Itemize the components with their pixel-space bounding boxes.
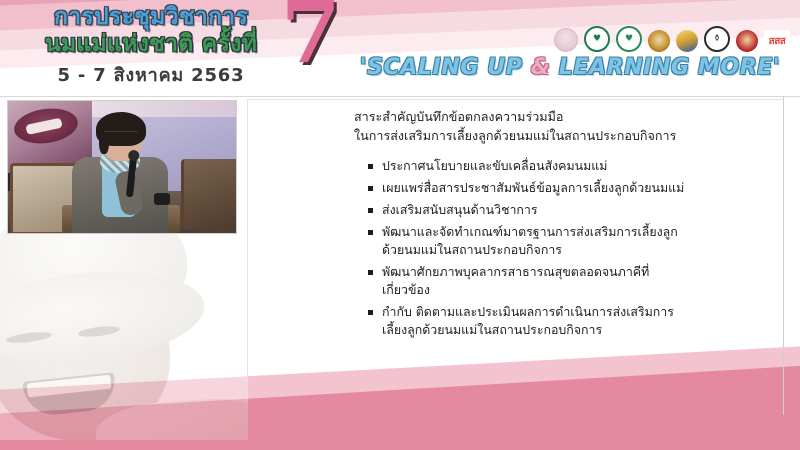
logo-breastfeeding-foundation-icon: ♥: [584, 26, 610, 52]
bullet-text: ประกาศนโยบายและขับเคลื่อนสังคมนมแม่: [382, 158, 607, 173]
bullet-text: กำกับ ติดตามและประเมินผลการดำเนินการส่งเ…: [382, 304, 674, 319]
organizer-logo-row: ♥ ♥ ⚱ สสส: [554, 26, 790, 52]
slide-body: สาระสำคัญบันทึกข้อตกลงความร่วมมือ ในการส…: [0, 97, 800, 450]
slogan-part1: 'SCALING UP: [360, 55, 531, 80]
list-item: พัฒนาและจัดทำเกณฑ์มาตรฐานการส่งเสริมการเ…: [368, 223, 774, 259]
conference-title-line2: นมแม่แห่งชาติ ครั้งที่: [16, 31, 286, 57]
bullet-text-cont: เลี้ยงลูกด้วยนมแม่ในสถานประกอบกิจการ: [382, 321, 774, 339]
content-top-rule: [248, 99, 784, 100]
bullet-text: พัฒนาและจัดทำเกณฑ์มาตรฐานการส่งเสริมการเ…: [382, 224, 678, 239]
speaker-video[interactable]: [8, 101, 236, 233]
logo-ministry-public-health-icon: [648, 30, 670, 52]
list-item: ประกาศนโยบายและขับเคลื่อนสังคมนมแม่: [368, 157, 774, 175]
conference-title: การประชุมวิชาการ นมแม่แห่งชาติ ครั้งที่ …: [16, 4, 286, 89]
edition-number: 7: [281, 0, 341, 76]
conference-slogan: 'SCALING UP & LEARNING MORE': [355, 55, 785, 80]
glasses-icon: [104, 131, 138, 140]
logo-thai-pediatric-society-icon: [736, 30, 758, 52]
list-item: กำกับ ติดตามและประเมินผลการดำเนินการส่งเ…: [368, 303, 774, 339]
logo-royal-patronage-icon: [554, 28, 578, 52]
list-item: ส่งเสริมสนับสนุนด้านวิชาการ: [368, 201, 774, 219]
conference-title-line1: การประชุมวิชาการ: [16, 4, 286, 30]
list-item: เผยแพร่สื่อสารประชาสัมพันธ์ข้อมูลการเลี้…: [368, 179, 774, 197]
content-lede-line2: ในการส่งเสริมการเลี้ยงลูกด้วยนมแม่ในสถาน…: [354, 126, 774, 145]
right-edge-divider: [783, 97, 784, 415]
slogan-part2: LEARNING MORE': [551, 55, 781, 80]
bullet-text: เผยแพร่สื่อสารประชาสัมพันธ์ข้อมูลการเลี้…: [382, 180, 684, 195]
bullet-text-cont: เกี่ยวข้อง: [382, 281, 774, 299]
presentation-slide: การประชุมวิชาการ นมแม่แห่งชาติ ครั้งที่ …: [0, 0, 800, 450]
content-lede-line1: สาระสำคัญบันทึกข้อตกลงความร่วมมือ: [354, 107, 774, 126]
slogan-ampersand: &: [531, 55, 551, 80]
bullet-text: ส่งเสริมสนับสนุนด้านวิชาการ: [382, 202, 538, 217]
child-watermark-photo: [0, 215, 248, 440]
slide-banner: การประชุมวิชาการ นมแม่แห่งชาติ ครั้งที่ …: [0, 0, 800, 97]
content-lede: สาระสำคัญบันทึกข้อตกลงความร่วมมือ ในการส…: [354, 107, 774, 145]
bullet-text: พัฒนาศักยภาพบุคลากรสาธารณสุขตลอดจนภาคีที…: [382, 264, 649, 279]
logo-royal-college-icon: [676, 30, 698, 52]
slide-content: สาระสำคัญบันทึกข้อตกลงความร่วมมือ ในการส…: [262, 107, 774, 343]
logo-health-department-icon: ♥: [616, 26, 642, 52]
bullet-list: ประกาศนโยบายและขับเคลื่อนสังคมนมแม่ เผยแ…: [262, 157, 774, 339]
column-divider: [247, 99, 248, 399]
list-item: พัฒนาศักยภาพบุคลากรสาธารณสุขตลอดจนภาคีที…: [368, 263, 774, 299]
bullet-text-cont: ด้วยนมแม่ในสถานประกอบกิจการ: [382, 241, 774, 259]
logo-nursing-council-icon: ⚱: [704, 26, 730, 52]
logo-thaihealth-icon: สสส: [764, 30, 790, 52]
conference-date: 5 - 7 สิงหาคม 2563: [16, 60, 286, 89]
